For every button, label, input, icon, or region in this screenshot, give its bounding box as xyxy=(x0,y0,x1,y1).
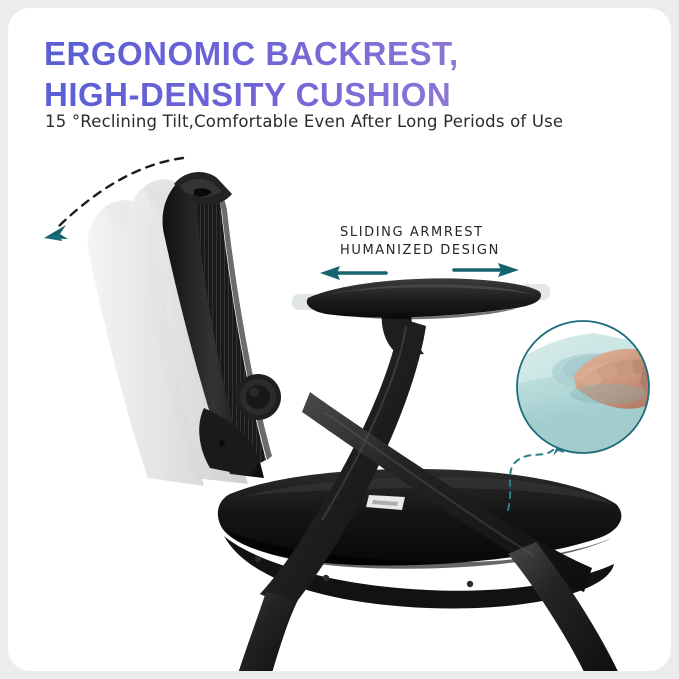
product-illustration xyxy=(8,8,671,671)
arrow-right-icon xyxy=(454,263,519,277)
foam-cushion-inset xyxy=(492,321,671,460)
product-infographic-card: ERGONOMIC BACKREST, HIGH-DENSITY CUSHION… xyxy=(8,8,671,671)
sliding-armrest-label: SLIDING ARMREST HUMANIZED DESIGN xyxy=(340,224,500,261)
armrest-slide-arrows xyxy=(320,263,519,280)
armrest-pad xyxy=(292,278,550,319)
arrow-left-icon xyxy=(320,266,386,280)
